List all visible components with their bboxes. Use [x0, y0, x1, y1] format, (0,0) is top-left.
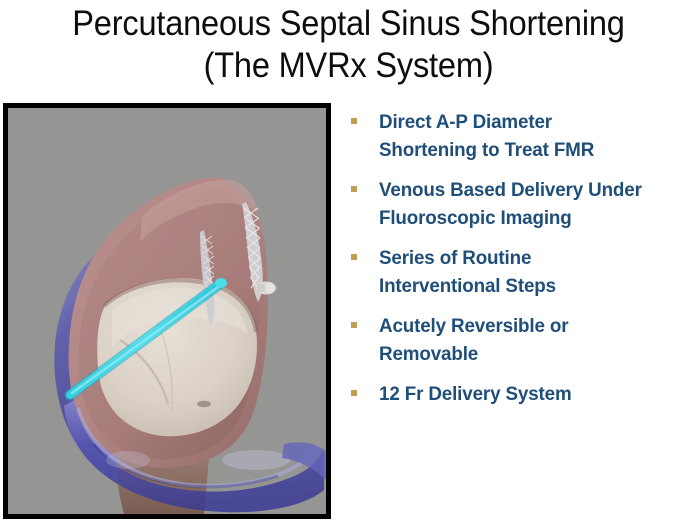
bullet-line: Series of Routine	[379, 247, 531, 269]
bullet-marker-icon	[351, 390, 357, 396]
bullet-item-5: 12 Fr Delivery System	[345, 380, 697, 408]
bullet-line: Fluoroscopic Imaging	[379, 207, 572, 229]
bullet-line: Venous Based Delivery Under	[379, 179, 642, 201]
bullet-line: 12 Fr Delivery System	[379, 383, 572, 405]
bullet-text-1: Direct A-P Diameter Shortening to Treat …	[379, 108, 686, 164]
bullet-item-3: Series of Routine Interventional Steps	[345, 244, 697, 300]
mitral-valve-illustration	[8, 108, 326, 514]
bullet-marker-icon	[351, 254, 357, 260]
bullet-list: Direct A-P Diameter Shortening to Treat …	[345, 108, 697, 420]
bullet-marker-icon	[351, 186, 357, 192]
bullet-marker-icon	[351, 322, 357, 328]
bullet-line: Interventional Steps	[379, 275, 556, 297]
bullet-item-4: Acutely Reversible or Removable	[345, 312, 697, 368]
bullet-item-1: Direct A-P Diameter Shortening to Treat …	[345, 108, 697, 164]
bullet-text-4: Acutely Reversible or Removable	[379, 312, 686, 368]
bullet-text-2: Venous Based Delivery Under Fluoroscopic…	[379, 176, 686, 232]
bullet-marker-icon	[351, 118, 357, 124]
bullet-item-2: Venous Based Delivery Under Fluoroscopic…	[345, 176, 697, 232]
bullet-line: Removable	[379, 343, 478, 365]
bullet-text-3: Series of Routine Interventional Steps	[379, 244, 686, 300]
slide-title: Percutaneous Septal Sinus Shortening (Th…	[0, 0, 697, 87]
bullet-line: Acutely Reversible or	[379, 315, 568, 337]
slide-title-line-1: Percutaneous Septal Sinus Shortening	[24, 3, 672, 45]
mitral-valve-model-image	[8, 108, 326, 514]
figure-frame	[3, 103, 331, 519]
slide-title-line-2: (The MVRx System)	[24, 45, 672, 87]
bullet-line: Shortening to Treat FMR	[379, 139, 594, 161]
bullet-line: Direct A-P Diameter	[379, 111, 552, 133]
bullet-text-5: 12 Fr Delivery System	[379, 380, 686, 408]
